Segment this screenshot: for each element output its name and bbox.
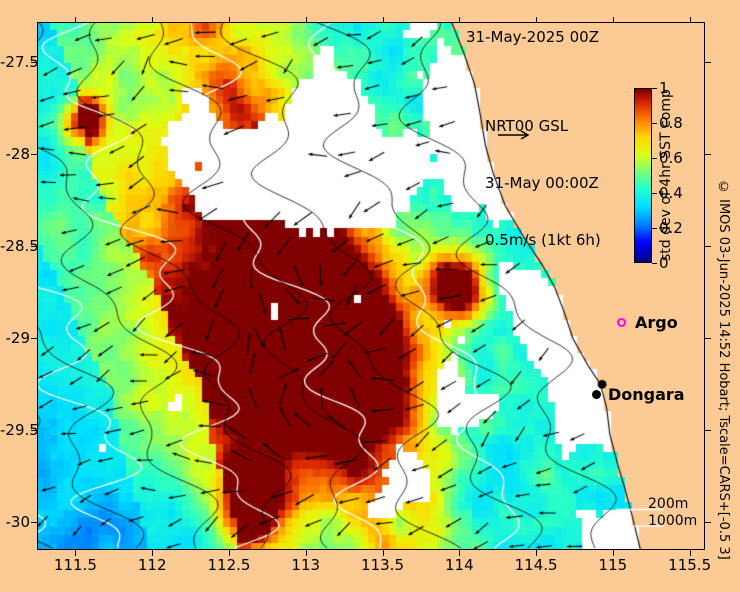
x-axis-tick [536, 17, 537, 23]
isobath-label-1000m: 1000m [648, 513, 697, 530]
right-arrow-icon [497, 129, 531, 141]
y-axis-tick [31, 522, 37, 523]
vector-scale-label: 0.5m/s (1kt 6h) [485, 231, 601, 250]
x-axis-tick [75, 17, 76, 23]
x-axis-tick-label: 113 [291, 556, 320, 574]
x-axis-tick [152, 17, 153, 23]
legend-dongara: Dongara [592, 385, 685, 404]
y-axis-tick-label: -27.5 [0, 53, 30, 71]
valid-time-label: 31-May 00:00Z [485, 174, 601, 193]
y-axis-tick [31, 338, 37, 339]
y-axis-tick [31, 154, 37, 155]
x-axis-tick [613, 17, 614, 23]
y-axis-tick [705, 154, 711, 155]
coastline-contour-vector-overlay [37, 22, 705, 550]
isobath-legend: 200m 1000m [648, 496, 697, 530]
y-axis-tick [705, 62, 711, 63]
argo-marker-icon [617, 318, 626, 327]
x-axis-tick-label: 114 [445, 556, 474, 574]
x-axis-tick [306, 17, 307, 23]
figure-root: 31-May-2025 00Z NRT00 GSL 31-May 00:00Z … [0, 0, 740, 592]
y-axis-tick [705, 522, 711, 523]
date-stamp: 31-May-2025 00Z [466, 28, 599, 46]
x-axis-tick-label: 115 [599, 556, 628, 574]
y-axis-tick-label: -28 [0, 145, 30, 163]
colorbar [634, 88, 652, 263]
x-axis-tick [690, 17, 691, 23]
x-axis-tick-label: 115.5 [668, 556, 711, 574]
x-axis-tick [459, 17, 460, 23]
map-plot-area[interactable] [37, 22, 705, 550]
legend-argo: Argo [617, 313, 678, 332]
x-axis-tick-label: 111.5 [54, 556, 97, 574]
y-axis-tick [705, 338, 711, 339]
x-axis-tick-label: 114.5 [515, 556, 558, 574]
y-axis-tick [705, 246, 711, 247]
x-axis-tick-label: 112 [138, 556, 167, 574]
y-axis-tick-label: -28.5 [0, 237, 30, 255]
y-axis-tick-label: -29 [0, 329, 30, 347]
argo-label: Argo [635, 313, 678, 332]
y-axis-tick [705, 430, 711, 431]
y-axis-tick-label: -29.5 [0, 421, 30, 439]
x-axis-tick [383, 17, 384, 23]
credit-text: © IMOS 03-Jun-2025 14:52 Hobart; Tscale=… [716, 180, 734, 560]
model-info-block: NRT00 GSL 31-May 00:00Z 0.5m/s (1kt 6h) [485, 79, 601, 288]
colorbar-axis-label: std dev of 4hr SST comp [656, 88, 676, 263]
x-axis-tick [229, 17, 230, 23]
colorbar-tick [652, 263, 657, 264]
x-axis-tick-label: 113.5 [361, 556, 404, 574]
dongara-marker-icon [592, 390, 601, 399]
x-axis-tick-label: 112.5 [207, 556, 250, 574]
dongara-label: Dongara [608, 385, 685, 404]
colorbar-gradient [634, 88, 652, 263]
y-axis-tick-label: -30 [0, 513, 30, 531]
isobath-label-200m: 200m [648, 496, 697, 513]
